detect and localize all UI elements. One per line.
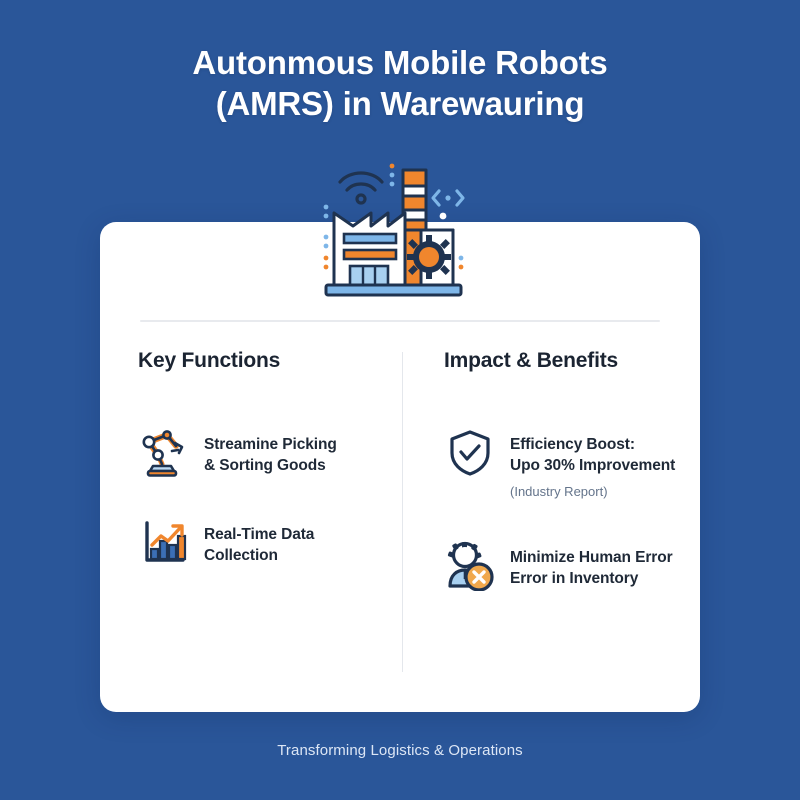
title-line-2: (AMRS) in Warewauring	[60, 83, 740, 124]
infographic-poster: Autonmous Mobile Robots (AMRS) in Warewa…	[0, 0, 800, 800]
hero-divider	[140, 320, 660, 322]
bar-chart-growth-icon	[138, 516, 190, 568]
list-item-label-line1: Streamine Picking	[204, 434, 337, 455]
smart-factory-icon	[306, 158, 496, 303]
columns-container: Key Functions	[100, 348, 700, 678]
page-title: Autonmous Mobile Robots (AMRS) in Warewa…	[0, 42, 800, 124]
list-item-text: Streamine Picking & Sorting Goods	[204, 432, 337, 476]
title-line-1: Autonmous Mobile Robots	[60, 42, 740, 83]
list-item: Minimize Human Error Error in Inventory	[444, 545, 678, 591]
robotic-arm-icon	[138, 426, 190, 478]
list-item: Streamine Picking & Sorting Goods	[138, 432, 382, 478]
list-item-text: Efficiency Boost: Upo 30% Improvement (I…	[510, 432, 675, 501]
list-item-label-line2: Upo 30% Improvement	[510, 455, 675, 476]
list-item-text: Minimize Human Error Error in Inventory	[510, 545, 673, 589]
column-divider	[402, 352, 403, 672]
list-item: Efficiency Boost: Upo 30% Improvement (I…	[444, 432, 678, 501]
list-item-label-line1: Minimize Human Error	[510, 547, 673, 568]
column-heading-right: Impact & Benefits	[444, 348, 678, 374]
shield-check-icon	[444, 426, 496, 478]
footer-tagline: Transforming Logistics & Operations	[0, 742, 800, 759]
user-error-icon	[444, 539, 496, 591]
column-impact-benefits: Impact & Benefits Efficiency Boost: Upo …	[400, 348, 700, 678]
list-item-text: Real-Time Data Collection	[204, 522, 314, 566]
list-item-subtext: (Industry Report)	[510, 483, 675, 501]
list-item-label-line2: Collection	[204, 545, 314, 566]
list-item-label-line2: Error in Inventory	[510, 568, 673, 589]
column-key-functions: Key Functions	[100, 348, 400, 678]
column-heading-left: Key Functions	[138, 348, 382, 374]
list-item-label-line1: Efficiency Boost:	[510, 434, 675, 455]
list-item-label-line1: Real-Time Data	[204, 524, 314, 545]
list-item-label-line2: & Sorting Goods	[204, 455, 337, 476]
list-item: Real-Time Data Collection	[138, 522, 382, 568]
